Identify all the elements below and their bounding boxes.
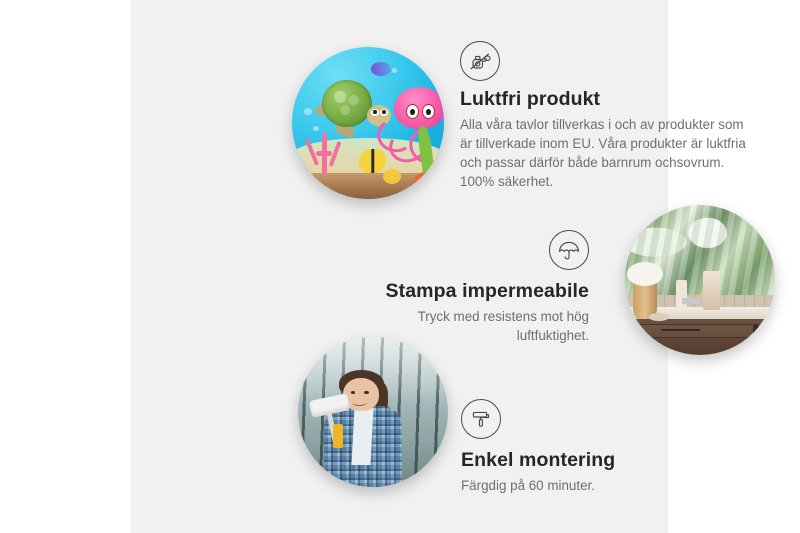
- woman-smile: [352, 399, 367, 406]
- woman-paint-roller-forest-wallpaper-circle: [298, 337, 448, 487]
- crab-icon: [414, 172, 438, 190]
- coral-icon: [306, 129, 346, 175]
- feature-title: Luktfri produkt: [460, 88, 760, 111]
- feature-block-easy-mounting: Enkel montering Färgdig på 60 minuter.: [461, 399, 721, 495]
- feature-block-odour-free: Luktfri produkt Alla våra tavlor tillver…: [460, 41, 760, 192]
- small-fish-icon: [383, 169, 401, 184]
- underwater-sea-life-illustration-circle: [292, 47, 444, 199]
- feature-description: Färgdig på 60 minuter.: [461, 476, 721, 495]
- content-panel: Luktfri produkt Alla våra tavlor tillver…: [131, 0, 668, 533]
- turtle-shell: [322, 80, 372, 127]
- turtle-eye: [371, 109, 379, 116]
- coral-branch: [316, 151, 332, 155]
- handheld-tool: [333, 424, 344, 448]
- faucet-icon: [682, 298, 700, 304]
- woman-eye: [351, 391, 356, 394]
- feature-title: Stampa impermeabile: [345, 280, 589, 303]
- paint-roller-icon: [461, 399, 501, 439]
- cabinet-drawer: [634, 324, 766, 338]
- white-flowers: [627, 262, 663, 286]
- purple-fish-icon: [371, 62, 391, 76]
- soap-dish: [649, 313, 669, 321]
- octopus-icon: [385, 87, 444, 155]
- vanity-cabinet: [625, 319, 775, 355]
- octopus-eye: [422, 104, 435, 119]
- toiletry-bottle: [703, 271, 720, 310]
- feature-block-waterproof: Stampa impermeabile Tryck med resistens …: [345, 230, 589, 345]
- bubble-icon: [392, 68, 397, 73]
- cabinet-handle: [753, 325, 759, 344]
- drawer-handle: [661, 329, 700, 331]
- page-root: Luktfri produkt Alla våra tavlor tillver…: [0, 0, 800, 533]
- feature-title: Enkel montering: [461, 449, 721, 472]
- bubble-icon: [304, 108, 312, 116]
- octopus-head: [394, 87, 444, 129]
- woman-eye: [364, 391, 369, 394]
- umbrella-waterproof-icon: [549, 230, 589, 270]
- feature-description: Alla våra tavlor tillverkas i och av pro…: [460, 115, 750, 191]
- woman-inner-shirt: [352, 408, 374, 465]
- no-odour-perfume-bottle-icon: [460, 41, 500, 81]
- bathroom-tropical-wallpaper-circle: [625, 205, 775, 355]
